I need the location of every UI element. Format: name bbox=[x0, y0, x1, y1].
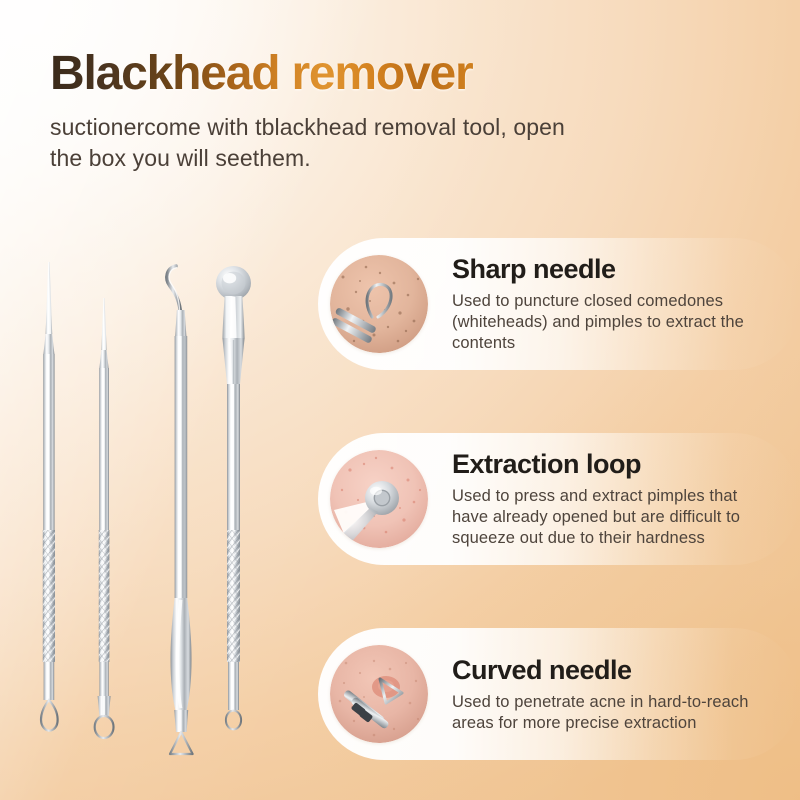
tool-sharp-needle-1 bbox=[41, 262, 58, 731]
feature-cards-list: Sharp needle Used to puncture closed com… bbox=[318, 238, 800, 760]
card-description: Used to press and extract pimples that h… bbox=[452, 486, 774, 549]
card-description: Used to puncture closed comedones (white… bbox=[452, 291, 774, 354]
tool-sharp-needle-2 bbox=[95, 298, 114, 738]
curved-needle-photo bbox=[330, 645, 428, 743]
card-text: Sharp needle Used to puncture closed com… bbox=[452, 253, 774, 354]
card-text: Extraction loop Used to press and extrac… bbox=[452, 448, 774, 549]
feature-card-extraction-loop[interactable]: Extraction loop Used to press and extrac… bbox=[318, 433, 800, 565]
card-text: Curved needle Used to penetrate acne in … bbox=[452, 654, 774, 734]
sharp-needle-photo bbox=[330, 255, 428, 353]
page-title: Blackhead remover bbox=[50, 48, 650, 100]
card-title: Curved needle bbox=[452, 656, 774, 686]
tool-extraction-loop bbox=[216, 266, 251, 729]
page-subtitle: suctionercome with tblackhead removal to… bbox=[50, 112, 590, 174]
extraction-loop-photo bbox=[330, 450, 428, 548]
card-title: Sharp needle bbox=[452, 255, 774, 285]
card-title: Extraction loop bbox=[452, 450, 774, 480]
header: Blackhead remover suctionercome with tbl… bbox=[50, 48, 650, 173]
tool-curved-needle bbox=[167, 266, 193, 754]
feature-card-curved-needle[interactable]: Curved needle Used to penetrate acne in … bbox=[318, 628, 800, 760]
tools-illustration bbox=[0, 250, 300, 770]
card-description: Used to penetrate acne in hard-to-reach … bbox=[452, 692, 774, 734]
feature-card-sharp-needle[interactable]: Sharp needle Used to puncture closed com… bbox=[318, 238, 800, 370]
